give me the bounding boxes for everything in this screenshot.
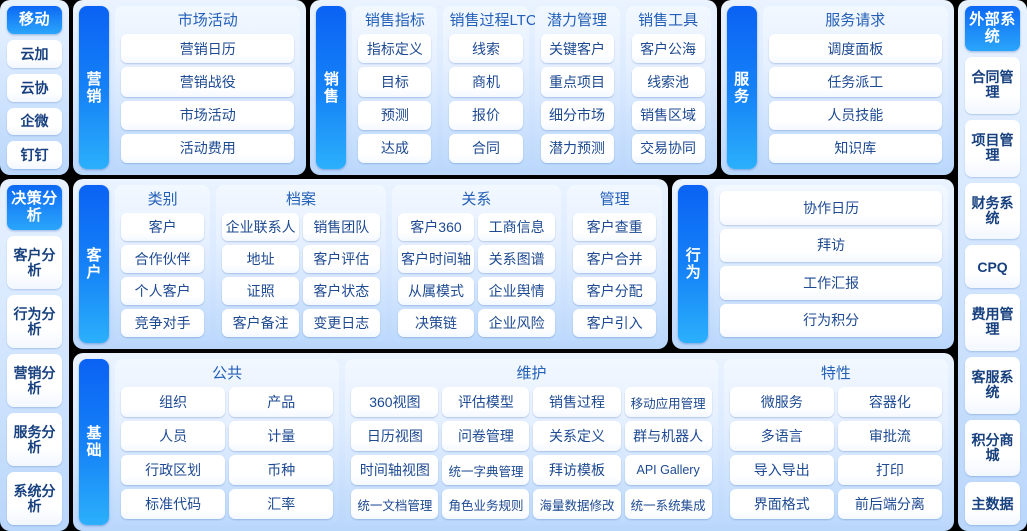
tile-item[interactable]: 活动费用 (121, 134, 294, 163)
section-spine-label: 基础 (86, 425, 102, 459)
group-title-item: 特性 (730, 363, 942, 387)
section-spine-item[interactable]: 销售 (316, 6, 346, 169)
left-rail: 移动 云加云协企微钉钉 决策分析 客户分析行为分析营销分析服务分析系统分析 (0, 0, 69, 531)
section-item: 服务服务请求调度面板任务派工人员技能知识库 (721, 0, 954, 175)
tile-item[interactable]: 交易协同 (632, 134, 705, 163)
section-groups: 类别客户合作伙伴个人客户竞争对手档案企业联系人销售团队地址客户评估证照客户状态客… (115, 185, 662, 343)
tile-item[interactable]: 从属模式 (398, 277, 475, 305)
tile-item[interactable]: 重点项目 (541, 67, 614, 96)
group-item: 服务请求调度面板任务派工人员技能知识库 (763, 6, 948, 169)
section-spine-item[interactable]: 营销 (79, 6, 109, 169)
section-groups: 销售指标指标定义目标预测达成销售过程LTC线索商机报价合同潜力管理关键客户重点项… (352, 6, 710, 169)
tile-item[interactable]: 客户时间轴 (398, 245, 475, 273)
tile-item[interactable]: 客户状态 (303, 277, 380, 305)
tile-item[interactable]: 证照 (222, 277, 299, 305)
tile-item[interactable]: 关系定义 (533, 421, 620, 451)
tile-item[interactable]: 人员 (121, 421, 225, 451)
tile-item[interactable]: 客户备注 (222, 309, 299, 337)
tile-item[interactable]: 角色业务规则 (442, 489, 529, 519)
tile-item[interactable]: 问卷管理 (442, 421, 529, 451)
section-item: 营销市场活动营销日历营销战役市场活动活动费用 (73, 0, 306, 175)
group-title-ltc: 销售过程LTC (449, 10, 522, 34)
tile-360[interactable]: 360视图 (351, 387, 438, 417)
tile-item[interactable]: 币种 (229, 455, 333, 485)
tile-item[interactable]: 企业舆情 (478, 277, 555, 305)
tile-item[interactable]: 审批流 (838, 421, 942, 451)
tile-item[interactable]: 客户分配 (573, 277, 656, 305)
section-spine-label: 客户 (86, 247, 102, 281)
tile-item[interactable]: 容器化 (838, 387, 942, 417)
group-title-item: 档案 (222, 189, 379, 213)
group-item: 维护360视图评估模型销售过程移动应用管理日历视图问卷管理关系定义群与机器人时间… (345, 359, 717, 525)
tile-item[interactable]: 报价 (449, 101, 522, 130)
tile-item[interactable]: 达成 (358, 134, 431, 163)
section-spine-label: 营销 (86, 71, 102, 105)
group-ltc: 销售过程LTC线索商机报价合同 (443, 6, 528, 169)
tile-item[interactable]: 计量 (229, 421, 333, 451)
tile-item[interactable]: 线索 (449, 34, 522, 63)
tile-item[interactable]: 知识库 (769, 134, 942, 163)
section-spine-item[interactable]: 服务 (727, 6, 757, 169)
section-groups: 市场活动营销日历营销战役市场活动活动费用 (115, 6, 300, 169)
group-tiles: 微服务容器化多语言审批流导入导出打印界面格式前后端分离 (730, 387, 942, 519)
tile-item[interactable]: 关系图谱 (478, 245, 555, 273)
rail-header-decision[interactable]: 决策分析 (7, 185, 62, 230)
tile-item[interactable]: 地址 (222, 245, 299, 273)
tile-item[interactable]: 组织 (121, 387, 225, 417)
tile-item[interactable]: 移动应用管理 (625, 387, 712, 417)
tile-item[interactable]: 销售过程 (533, 387, 620, 417)
tile-item[interactable]: 营销战役 (121, 67, 294, 96)
rail-item-item[interactable]: 钉钉 (7, 141, 62, 169)
section-item: 客户类别客户合作伙伴个人客户竞争对手档案企业联系人销售团队地址客户评估证照客户状… (73, 179, 668, 349)
rail-item-item[interactable]: 积分商城 (965, 420, 1020, 477)
group-tiles: 组织产品人员计量行政区划币种标准代码汇率 (121, 387, 333, 519)
group-title-item: 销售工具 (632, 10, 705, 34)
group-tiles: 360视图评估模型销售过程移动应用管理日历视图问卷管理关系定义群与机器人时间轴视… (351, 387, 711, 519)
tile-item[interactable]: 汇率 (229, 489, 333, 519)
tile-item[interactable]: 客户合并 (573, 245, 656, 273)
group-untitled: 协作日历拜访工作汇报行为积分 (714, 185, 948, 343)
tile-item[interactable]: 导入导出 (730, 455, 834, 485)
band-row-3: 基础公共组织产品人员计量行政区划币种标准代码汇率维护360视图评估模型销售过程移… (73, 353, 954, 531)
tile-item[interactable]: 拜访 (720, 229, 942, 263)
band-row-1: 营销市场活动营销日历营销战役市场活动活动费用销售销售指标指标定义目标预测达成销售… (73, 0, 954, 175)
group-title-item: 公共 (121, 363, 333, 387)
group-title-item: 管理 (573, 189, 656, 213)
rail-item-cpq[interactable]: CPQ (965, 245, 1020, 288)
group-tiles: 客户360工商信息客户时间轴关系图谱从属模式企业舆情决策链企业风险 (398, 213, 555, 337)
section-spine-item[interactable]: 行为 (678, 185, 708, 343)
rail-item-item[interactable]: 营销分析 (7, 354, 62, 407)
tile-item[interactable]: 评估模型 (442, 387, 529, 417)
tile-item[interactable]: 合作伙伴 (121, 245, 204, 273)
group-tiles: 客户公海线索池销售区域交易协同 (632, 34, 705, 163)
group-title-item: 市场活动 (121, 10, 294, 34)
tile-item[interactable]: 决策链 (398, 309, 475, 337)
tile-item[interactable]: 人员技能 (769, 101, 942, 130)
group-item: 档案企业联系人销售团队地址客户评估证照客户状态客户备注变更日志 (216, 185, 385, 343)
tile-item[interactable]: 调度面板 (769, 34, 942, 63)
tile-item[interactable]: 竞争对手 (121, 309, 204, 337)
rail-item-item[interactable]: 客服系统 (965, 357, 1020, 414)
rail-item-item[interactable]: 主数据 (965, 482, 1020, 525)
tile-item[interactable]: 个人客户 (121, 277, 204, 305)
group-title-item: 类别 (121, 189, 204, 213)
tile-item[interactable]: 微服务 (730, 387, 834, 417)
group-item: 类别客户合作伙伴个人客户竞争对手 (115, 185, 210, 343)
tile-item[interactable]: 拜访模板 (533, 455, 620, 485)
rail-header-external-systems[interactable]: 外部系统 (965, 6, 1020, 51)
tile-item[interactable]: 客户公海 (632, 34, 705, 63)
rail-item-item[interactable]: 合同管理 (965, 57, 1020, 114)
tile-item[interactable]: 客户评估 (303, 245, 380, 273)
group-title-item: 维护 (351, 363, 711, 387)
group-item: 管理客户查重客户合并客户分配客户引入 (567, 185, 662, 343)
group-item: 销售指标指标定义目标预测达成 (352, 6, 437, 169)
group-tiles: 关键客户重点项目细分市场潜力预测 (541, 34, 614, 163)
center-column: 营销市场活动营销日历营销战役市场活动活动费用销售销售指标指标定义目标预测达成销售… (73, 0, 954, 531)
group-tiles: 企业联系人销售团队地址客户评估证照客户状态客户备注变更日志 (222, 213, 379, 337)
tile-item[interactable]: 标准代码 (121, 489, 225, 519)
tile-item[interactable]: 潜力预测 (541, 134, 614, 163)
rail-item-item[interactable]: 系统分析 (7, 472, 62, 525)
tile-item[interactable]: 统一字典管理 (442, 455, 529, 485)
tile-item[interactable]: 客户引入 (573, 309, 656, 337)
tile-item[interactable]: 指标定义 (358, 34, 431, 63)
tile-item[interactable]: 协作日历 (720, 191, 942, 225)
group-title-item: 关系 (398, 189, 555, 213)
section-groups: 公共组织产品人员计量行政区划币种标准代码汇率维护360视图评估模型销售过程移动应… (115, 359, 948, 525)
group-title-item: 潜力管理 (541, 10, 614, 34)
tile-item[interactable]: 市场活动 (121, 101, 294, 130)
section-spine-item[interactable]: 客户 (79, 185, 109, 343)
rail-item-item[interactable]: 云协 (7, 74, 62, 102)
group-item: 公共组织产品人员计量行政区划币种标准代码汇率 (115, 359, 339, 525)
tile-api-gallery[interactable]: API Gallery (625, 455, 712, 485)
group-title-item: 服务请求 (769, 10, 942, 34)
group-tiles: 客户合作伙伴个人客户竞争对手 (121, 213, 204, 337)
rail-panel-decision: 决策分析 客户分析行为分析营销分析服务分析系统分析 (0, 179, 69, 531)
tile-item[interactable]: 海量数据修改 (533, 489, 620, 519)
rail-item-item[interactable]: 服务分析 (7, 413, 62, 466)
right-rail: 外部系统 合同管理项目管理财务系统CPQ费用管理客服系统积分商城主数据 (958, 0, 1027, 531)
tile-item[interactable]: 行政区划 (121, 455, 225, 485)
group-tiles: 协作日历拜访工作汇报行为积分 (720, 189, 942, 337)
tile-item[interactable]: 销售区域 (632, 101, 705, 130)
rail-item-item[interactable]: 客户分析 (7, 236, 62, 289)
rail-header-mobile[interactable]: 移动 (7, 6, 62, 34)
app-architecture-map: 移动 云加云协企微钉钉 决策分析 客户分析行为分析营销分析服务分析系统分析 营销… (0, 0, 1027, 531)
group-tiles: 营销日历营销战役市场活动活动费用 (121, 34, 294, 163)
tile-item[interactable]: 营销日历 (121, 34, 294, 63)
tile-item[interactable]: 关键客户 (541, 34, 614, 63)
rail-panel-external-systems: 外部系统 合同管理项目管理财务系统CPQ费用管理客服系统积分商城主数据 (958, 0, 1027, 531)
section-item: 基础公共组织产品人员计量行政区划币种标准代码汇率维护360视图评估模型销售过程移… (73, 353, 954, 531)
tile-item[interactable]: 多语言 (730, 421, 834, 451)
tile-item[interactable]: 任务派工 (769, 67, 942, 96)
tile-item[interactable]: 产品 (229, 387, 333, 417)
section-groups: 协作日历拜访工作汇报行为积分 (714, 185, 948, 343)
tile-360[interactable]: 客户360 (398, 213, 475, 241)
section-spine-label: 销售 (323, 71, 339, 105)
section-spine-label: 行为 (685, 247, 701, 281)
group-tiles: 指标定义目标预测达成 (358, 34, 431, 163)
section-spine-item[interactable]: 基础 (79, 359, 109, 525)
tile-item[interactable]: 界面格式 (730, 489, 834, 519)
group-item: 特性微服务容器化多语言审批流导入导出打印界面格式前后端分离 (724, 359, 948, 525)
tile-item[interactable]: 商机 (449, 67, 522, 96)
tile-item[interactable]: 工作汇报 (720, 266, 942, 300)
group-item: 潜力管理关键客户重点项目细分市场潜力预测 (535, 6, 620, 169)
rail-item-item[interactable]: 财务系统 (965, 183, 1020, 240)
section-item: 销售销售指标指标定义目标预测达成销售过程LTC线索商机报价合同潜力管理关键客户重… (310, 0, 716, 175)
group-item: 市场活动营销日历营销战役市场活动活动费用 (115, 6, 300, 169)
group-tiles: 调度面板任务派工人员技能知识库 (769, 34, 942, 163)
section-groups: 服务请求调度面板任务派工人员技能知识库 (763, 6, 948, 169)
tile-item[interactable]: 细分市场 (541, 101, 614, 130)
tile-item[interactable]: 前后端分离 (838, 489, 942, 519)
tile-item[interactable]: 统一系统集成 (625, 489, 712, 519)
group-title-item: 销售指标 (358, 10, 431, 34)
tile-item[interactable]: 客户查重 (573, 213, 656, 241)
section-spine-label: 服务 (734, 71, 750, 105)
tile-item[interactable]: 企业联系人 (222, 213, 299, 241)
rail-item-item[interactable]: 项目管理 (965, 120, 1020, 177)
tile-item[interactable]: 时间轴视图 (351, 455, 438, 485)
group-tiles: 线索商机报价合同 (449, 34, 522, 163)
tile-item[interactable]: 工商信息 (478, 213, 555, 241)
tile-item[interactable]: 日历视图 (351, 421, 438, 451)
tile-item[interactable]: 群与机器人 (625, 421, 712, 451)
rail-panel-mobile: 移动 云加云协企微钉钉 (0, 0, 69, 175)
tile-item[interactable]: 变更日志 (303, 309, 380, 337)
tile-item[interactable]: 合同 (449, 134, 522, 163)
tile-item[interactable]: 企业风险 (478, 309, 555, 337)
rail-item-item[interactable]: 企微 (7, 108, 62, 136)
tile-item[interactable]: 目标 (358, 67, 431, 96)
tile-item[interactable]: 线索池 (632, 67, 705, 96)
group-item: 销售工具客户公海线索池销售区域交易协同 (626, 6, 711, 169)
section-item: 行为协作日历拜访工作汇报行为积分 (672, 179, 954, 349)
group-item: 关系客户360工商信息客户时间轴关系图谱从属模式企业舆情决策链企业风险 (392, 185, 561, 343)
tile-item[interactable]: 打印 (838, 455, 942, 485)
band-row-2: 客户类别客户合作伙伴个人客户竞争对手档案企业联系人销售团队地址客户评估证照客户状… (73, 179, 954, 349)
rail-item-item[interactable]: 云加 (7, 40, 62, 68)
tile-item[interactable]: 统一文档管理 (351, 489, 438, 519)
rail-item-item[interactable]: 行为分析 (7, 295, 62, 348)
group-tiles: 客户查重客户合并客户分配客户引入 (573, 213, 656, 337)
tile-item[interactable]: 行为积分 (720, 304, 942, 338)
tile-item[interactable]: 客户 (121, 213, 204, 241)
tile-item[interactable]: 销售团队 (303, 213, 380, 241)
rail-item-item[interactable]: 费用管理 (965, 294, 1020, 351)
tile-item[interactable]: 预测 (358, 101, 431, 130)
